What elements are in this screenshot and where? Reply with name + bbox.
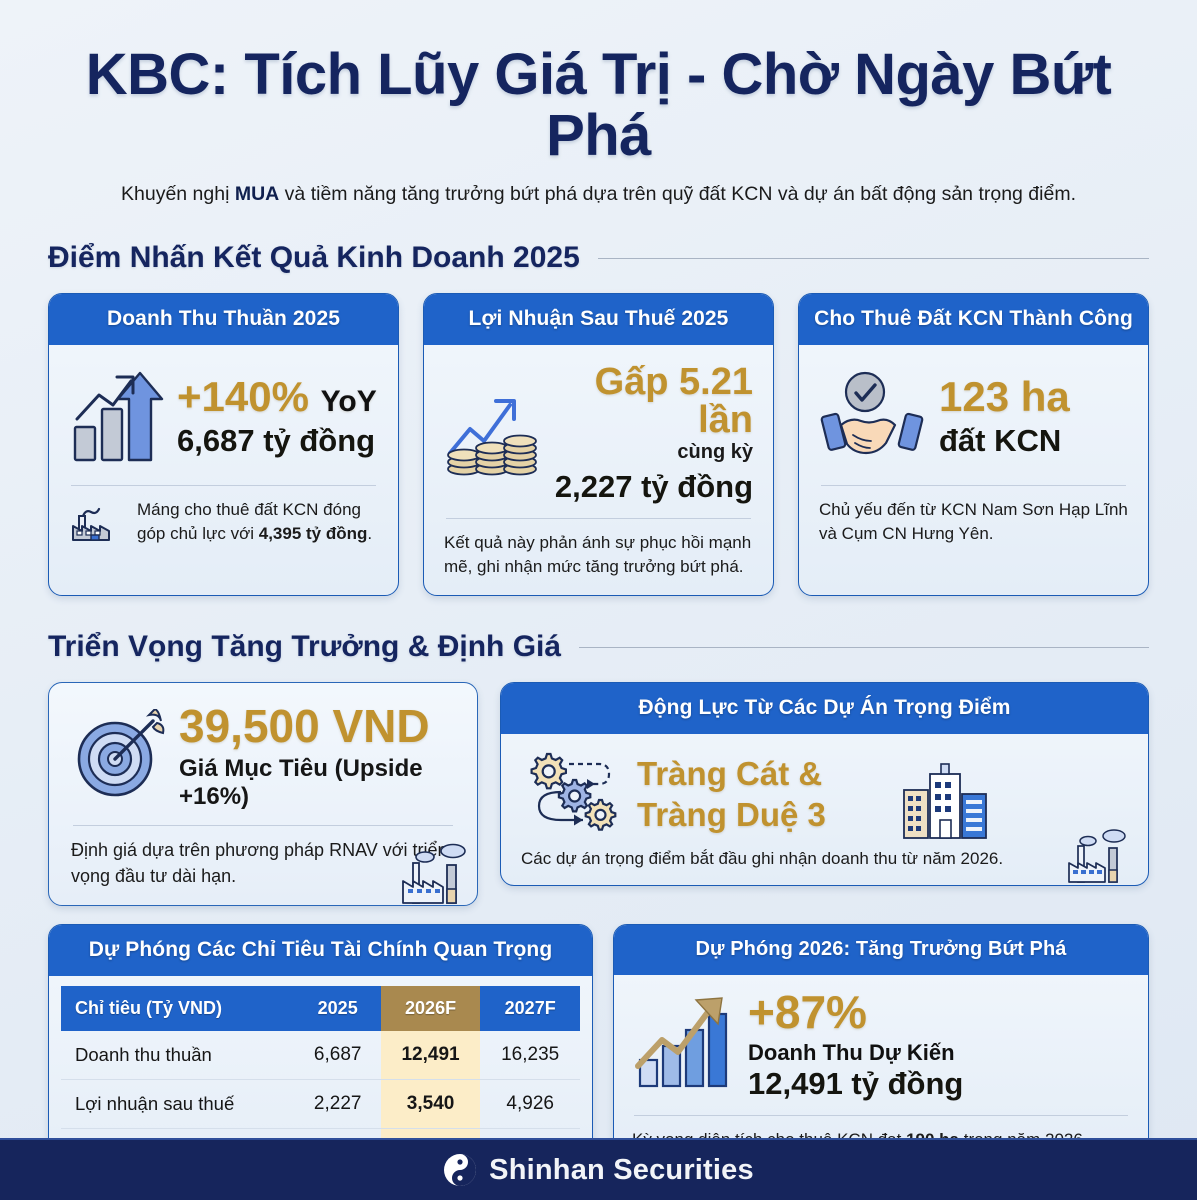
revenue-growth-unit: YoY — [321, 385, 377, 418]
revenue-note-c: . — [367, 524, 372, 543]
target-price-value: 39,500 VND — [179, 703, 455, 749]
profit-note: Kết quả này phản ánh sự phục hồi mạnh mẽ… — [444, 531, 753, 579]
card-projects-header: Động Lực Từ Các Dự Án Trọng Điểm — [501, 683, 1148, 734]
cell-2026F: 3,540 — [381, 1080, 481, 1129]
col-header-2025: 2025 — [295, 986, 381, 1031]
card-target-price: 39,500 VND Giá Mục Tiêu (Upside +16%) Đị… — [48, 682, 478, 906]
subtitle-pre: Khuyến nghị — [121, 183, 235, 205]
cell-2025: 6,687 — [295, 1031, 381, 1080]
row-label: Doanh thu thuần — [61, 1031, 295, 1080]
section-header-outlook: Triển Vọng Tăng Trưởng & Định Giá — [48, 630, 1149, 664]
col-header-2026F: 2026F — [381, 986, 481, 1031]
card-divider — [71, 485, 376, 486]
cell-2027F: 16,235 — [480, 1031, 580, 1080]
outlook-card-row: 39,500 VND Giá Mục Tiêu (Upside +16%) Đị… — [48, 682, 1149, 906]
card-land-leasing: Cho Thuê Đất KCN Thành Công — [798, 293, 1149, 596]
section-2-title: Triển Vọng Tăng Trưởng & Định Giá — [48, 630, 561, 664]
footer-brand-name: Shinhan Securities — [489, 1154, 754, 1187]
valuation-note: Định giá dựa trên phương pháp RNAV với t… — [71, 838, 455, 889]
infographic-page: KBC: Tích Lũy Giá Trị - Chờ Ngày Bứt Phá… — [0, 0, 1197, 1200]
cell-2026F: 12,491 — [381, 1031, 481, 1080]
gears-flow-icon — [521, 748, 625, 841]
shinhan-logo-icon — [443, 1153, 477, 1187]
factory-icon — [69, 498, 125, 549]
section-divider-line — [598, 258, 1149, 259]
col-header-metric: Chỉ tiêu (Tỷ VND) — [61, 986, 295, 1031]
card-land-body: 123 ha đất KCN Chủ yếu đến từ KCN Nam Sơ… — [799, 345, 1148, 562]
table-row: Doanh thu thuần 6,687 12,491 16,235 — [61, 1031, 580, 1080]
card-land-header: Cho Thuê Đất KCN Thành Công — [799, 294, 1148, 345]
subtitle-recommendation: MUA — [235, 183, 279, 205]
revenue-growth-pct: +140% — [177, 373, 309, 420]
forecast-amount: 12,491 tỷ đồng — [748, 1068, 1130, 1101]
land-area-label: đất KCN — [939, 425, 1128, 458]
table-header-row: Chỉ tiêu (Tỷ VND) 2025 2026F 2027F — [61, 986, 580, 1031]
project-line-2: Tràng Duệ 3 — [637, 795, 1128, 835]
section-divider-line — [579, 647, 1149, 648]
card-divider — [73, 825, 453, 826]
card-key-projects: Động Lực Từ Các Dự Án Trọng Điểm — [500, 682, 1149, 886]
bar-chart-up-icon — [69, 365, 165, 470]
profit-multiple: Gấp 5.21 lần — [552, 363, 753, 439]
hero-section: KBC: Tích Lũy Giá Trị - Chờ Ngày Bứt Phá… — [0, 0, 1197, 207]
subtitle-post: và tiềm năng tăng trưởng bứt phá dựa trê… — [279, 183, 1076, 205]
card-revenue-body: +140% YoY 6,687 tỷ đồng — [49, 345, 398, 565]
target-arrow-icon — [71, 709, 167, 806]
page-subtitle: Khuyến nghị MUA và tiềm năng tăng trưởng… — [48, 181, 1149, 207]
coins-growth-icon — [444, 381, 540, 486]
project-line-1: Tràng Cát & — [637, 754, 1128, 794]
row-label: Lợi nhuận sau thuế — [61, 1080, 295, 1129]
target-price-caption: Giá Mục Tiêu (Upside +16%) — [179, 755, 455, 811]
profit-period: cùng kỳ — [552, 441, 753, 464]
land-area-value: 123 ha — [939, 376, 1128, 418]
projects-name: Tràng Cát & Tràng Duệ 3 — [637, 754, 1128, 835]
card-revenue-2025: Doanh Thu Thuần 2025 +1 — [48, 293, 399, 596]
land-note: Chủ yếu đến từ KCN Nam Sơn Hạp Lĩnh và C… — [819, 498, 1128, 546]
forecast-growth-pct: +87% — [748, 989, 1130, 1035]
revenue-note: Máng cho thuê đất KCN đóng góp chủ lực v… — [137, 498, 378, 546]
col-header-2027F: 2027F — [480, 986, 580, 1031]
revenue-note-highlight: 4,395 tỷ đồng — [259, 524, 368, 543]
card-forecast-header: Dự Phóng 2026: Tăng Trưởng Bứt Phá — [614, 925, 1148, 975]
cell-2027F: 4,926 — [480, 1080, 580, 1129]
card-divider — [446, 518, 751, 519]
card-divider — [821, 485, 1126, 486]
cell-2025: 2,227 — [295, 1080, 381, 1129]
section-header-results: Điểm Nhấn Kết Quả Kinh Doanh 2025 — [48, 241, 1149, 275]
card-profit-body: Gấp 5.21 lần cùng kỳ 2,227 tỷ đồng Kết q… — [424, 345, 773, 595]
forecast-caption: Doanh Thu Dự Kiến — [748, 1040, 1130, 1066]
table-row: Lợi nhuận sau thuế 2,227 3,540 4,926 — [61, 1080, 580, 1129]
revenue-amount: 6,687 tỷ đồng — [177, 425, 378, 458]
card-revenue-header: Doanh Thu Thuần 2025 — [49, 294, 398, 345]
kpi-card-row: Doanh Thu Thuần 2025 +1 — [48, 293, 1149, 596]
card-profit-header: Lợi Nhuận Sau Thuế 2025 — [424, 294, 773, 345]
card-profit-2025: Lợi Nhuận Sau Thuế 2025 — [423, 293, 774, 596]
card-projects-body: Tràng Cát & Tràng Duệ 3 Các dự án trọng … — [501, 734, 1148, 885]
handshake-check-icon — [819, 365, 927, 470]
footer-bar: Shinhan Securities — [0, 1138, 1197, 1200]
section-1-title: Điểm Nhấn Kết Quả Kinh Doanh 2025 — [48, 241, 580, 275]
card-forecast-2026: Dự Phóng 2026: Tăng Trưởng Bứt Phá — [613, 924, 1149, 1167]
growth-bars-arrow-icon — [632, 990, 736, 1099]
card-divider — [634, 1115, 1128, 1116]
projects-note: Các dự án trọng điểm bắt đầu ghi nhận do… — [521, 847, 1128, 871]
page-title: KBC: Tích Lũy Giá Trị - Chờ Ngày Bứt Phá — [48, 44, 1149, 167]
table-header-title: Dự Phóng Các Chỉ Tiêu Tài Chính Quan Trọ… — [49, 925, 592, 976]
revenue-growth-value: +140% YoY — [177, 376, 378, 418]
profit-amount: 2,227 tỷ đồng — [552, 471, 753, 504]
